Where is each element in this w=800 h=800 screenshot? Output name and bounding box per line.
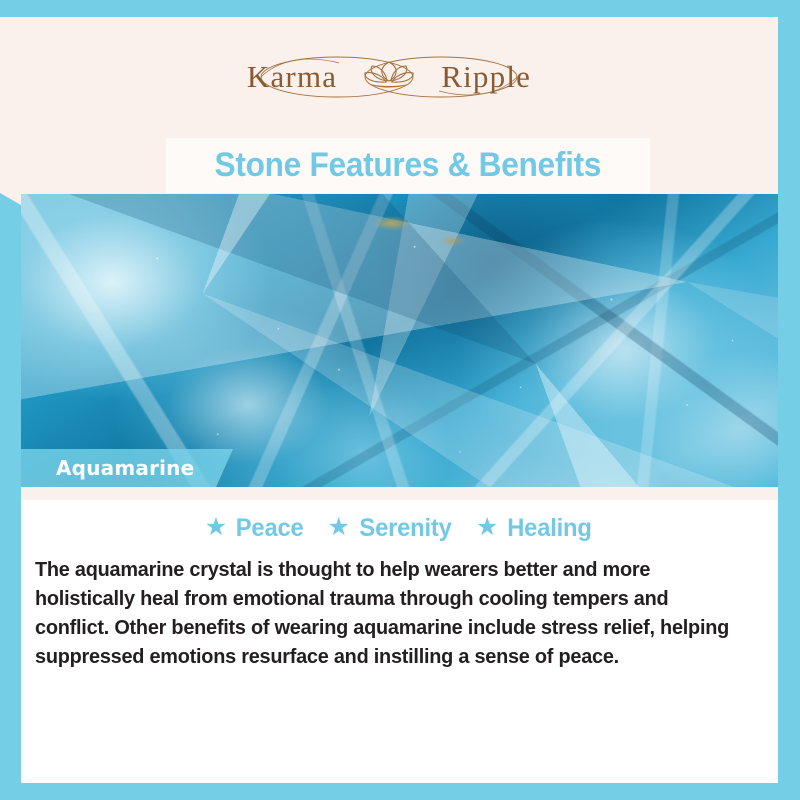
hero-crystal-image — [21, 194, 778, 487]
star-icon: ★ — [327, 515, 349, 540]
keyword-item-peace: ★ Peace — [205, 514, 306, 543]
section-title-banner: Stone Features & Benefits — [166, 138, 650, 193]
star-icon: ★ — [205, 515, 227, 540]
poster-canvas: Karma Ripple Stone Features & Benefits — [0, 0, 800, 800]
page-title: Stone Features & Benefits — [215, 146, 602, 185]
left-accent-strip — [0, 193, 21, 783]
star-icon: ★ — [476, 515, 498, 540]
keyword-label: Healing — [508, 514, 592, 543]
lotus-flower-icon — [239, 41, 539, 113]
keyword-label: Serenity — [359, 514, 451, 543]
brand-header: Karma Ripple — [0, 17, 778, 137]
bottom-accent-band — [0, 783, 800, 800]
hero-sparkle-layer — [21, 194, 778, 487]
content-area: ★ Peace ★ Serenity ★ Healing The aquamar… — [21, 500, 778, 783]
keyword-item-healing: ★ Healing — [476, 514, 594, 543]
keyword-item-serenity: ★ Serenity — [327, 514, 453, 543]
keyword-label: Peace — [236, 514, 304, 543]
cream-divider — [21, 487, 778, 500]
stone-name-label: Aquamarine — [21, 456, 194, 480]
description-paragraph: The aquamarine crystal is thought to hel… — [35, 555, 741, 671]
stone-name-banner: Aquamarine — [21, 449, 233, 487]
keyword-row: ★ Peace ★ Serenity ★ Healing — [21, 500, 778, 543]
brand-logo: Karma Ripple — [239, 41, 539, 113]
